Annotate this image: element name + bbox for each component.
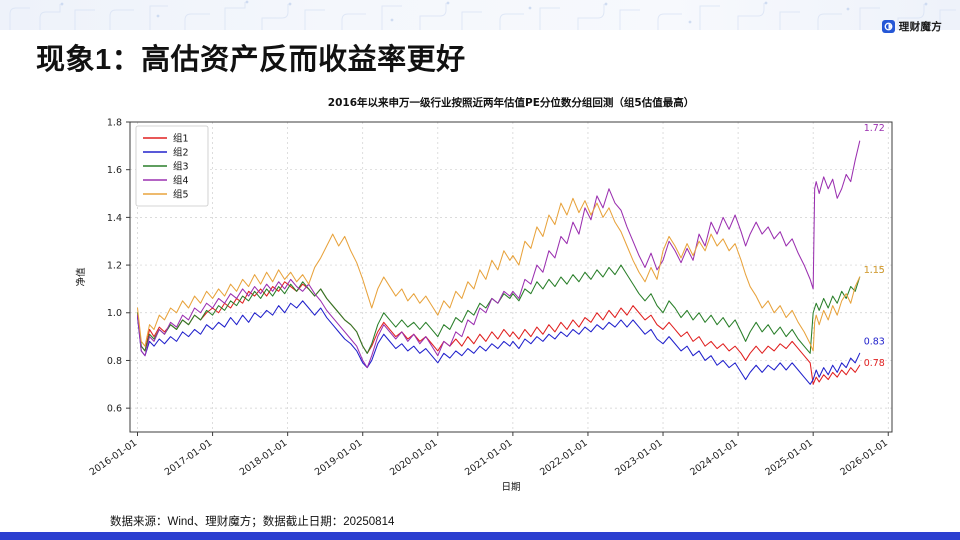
x-axis-tick-label: 2022-01-01 [538,437,590,478]
x-axis-tick-label: 2019-01-01 [313,437,365,478]
series-line-组1 [138,282,860,385]
chart-container: 2016年以来申万一级行业按照近两年估值PE分位数分组回测（组5估值最高）0.6… [60,92,920,492]
x-axis-tick-label: 2026-01-01 [838,437,890,478]
series-end-value-label: 0.78 [864,358,885,369]
x-axis-tick-label: 2018-01-01 [238,437,290,478]
x-axis-tick-label: 2024-01-01 [688,437,740,478]
x-axis-tick-label: 2021-01-01 [463,437,515,478]
circuit-pattern-decoration [0,0,960,30]
footer-accent-bar [0,532,960,540]
chart-title: 2016年以来申万一级行业按照近两年估值PE分位数分组回测（组5估值最高） [328,96,694,109]
x-axis-tick-label: 2017-01-01 [163,437,215,478]
series-end-value-label: 0.83 [864,336,885,347]
legend-label-组2: 组2 [173,146,189,158]
y-axis-tick-label: 0.8 [107,356,122,367]
series-line-组4 [138,141,860,368]
brand-name: 理财魔方 [899,19,942,34]
legend-label-组1: 组1 [173,132,189,144]
page-title: 现象1：高估资产反而收益率更好 [36,36,466,78]
series-end-value-label: 1.72 [864,123,885,134]
legend-label-组4: 组4 [173,174,189,186]
net-value-line-chart: 2016年以来申万一级行业按照近两年估值PE分位数分组回测（组5估值最高）0.6… [60,92,920,492]
brand-logo: 理财魔方 [882,18,942,34]
series-line-组2 [138,301,860,384]
y-axis-tick-label: 1.6 [107,165,122,176]
header-band [0,0,960,30]
x-axis-tick-label: 2016-01-01 [88,437,140,478]
legend-label-组5: 组5 [173,188,189,200]
series-end-value-label: 1.15 [864,265,885,276]
x-axis-tick-label: 2025-01-01 [763,437,815,478]
data-source-note: 数据来源：Wind、理财魔方；数据截止日期：20250814 [110,513,394,529]
y-axis-title: 净值 [75,267,87,287]
series-line-组5 [138,198,860,351]
circle-swirl-icon [882,20,895,33]
y-axis-tick-label: 0.6 [107,404,122,415]
x-axis-tick-label: 2020-01-01 [388,437,440,478]
y-axis-tick-label: 1.4 [107,213,122,224]
y-axis-tick-label: 1.2 [107,260,122,271]
y-axis-tick-label: 1.0 [107,308,122,319]
series-line-组3 [138,265,860,353]
legend-label-组3: 组3 [173,160,189,172]
x-axis-tick-label: 2023-01-01 [613,437,665,478]
x-axis-title: 日期 [501,482,520,492]
y-axis-tick-label: 1.8 [107,117,122,128]
